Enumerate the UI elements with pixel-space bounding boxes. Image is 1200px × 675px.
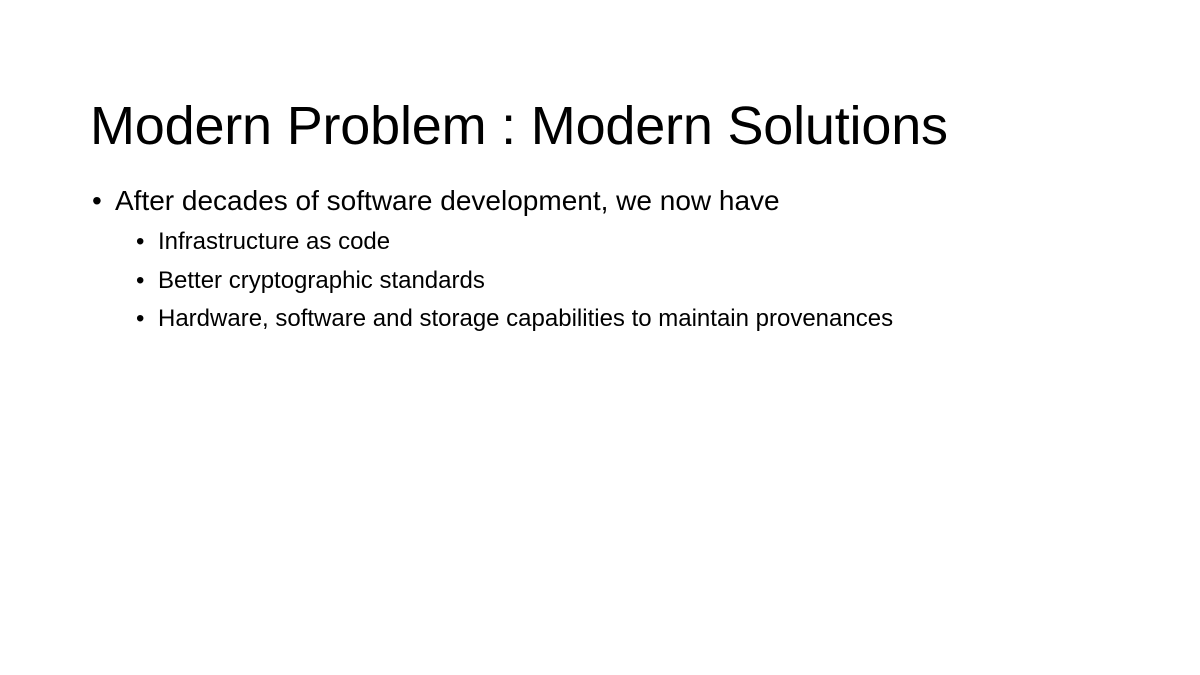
list-item: • After decades of software development,… — [90, 180, 1130, 222]
list-item-label: Better cryptographic standards — [158, 267, 485, 294]
list-item: • Hardware, software and storage capabil… — [136, 300, 1130, 339]
list-item-label: Infrastructure as code — [158, 228, 390, 255]
slide-canvas: Modern Problem : Modern Solutions • Afte… — [0, 0, 1200, 675]
bullet-point-icon: • — [92, 180, 102, 222]
bullet-point-icon: • — [136, 223, 144, 262]
bullet-point-icon: • — [136, 262, 144, 301]
list-item-label: Hardware, software and storage capabilit… — [158, 305, 893, 332]
bullet-point-icon: • — [136, 300, 144, 339]
sub-list: • Infrastructure as code • Better crypto… — [90, 223, 1130, 339]
list-item: • Infrastructure as code — [136, 223, 1130, 262]
page-title: Modern Problem : Modern Solutions — [90, 98, 1110, 155]
slide-body: • After decades of software development,… — [90, 180, 1130, 339]
list-item: • Better cryptographic standards — [136, 262, 1130, 301]
list-item-label: After decades of software development, w… — [115, 185, 780, 216]
